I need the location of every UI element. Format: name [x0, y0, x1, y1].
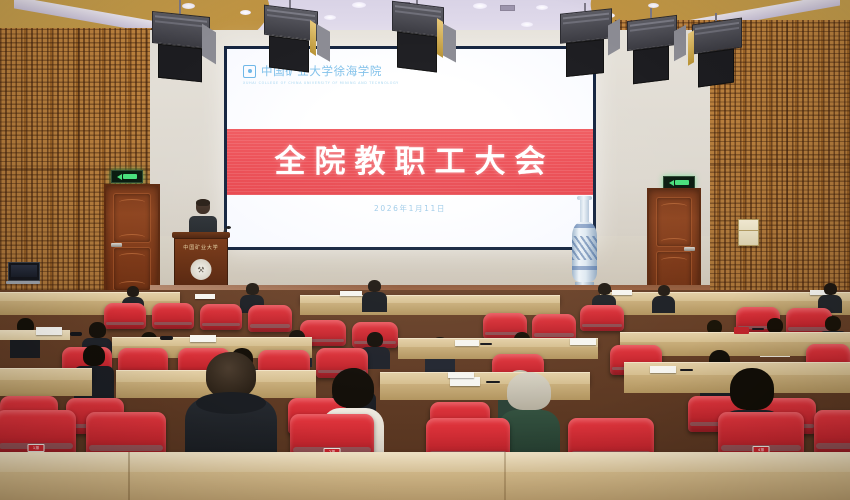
attendee — [362, 280, 387, 312]
paper-sheet — [650, 366, 676, 373]
seat[interactable] — [580, 305, 624, 331]
university-crest-icon — [243, 65, 256, 78]
paper-sheet — [36, 327, 62, 335]
downlight — [352, 2, 366, 8]
stage-light-side-flap — [443, 24, 456, 63]
paper-sheet — [448, 372, 474, 378]
pen — [480, 343, 492, 345]
seat[interactable] — [152, 303, 194, 329]
wall-seam — [78, 28, 80, 303]
paper-sheet — [340, 291, 362, 296]
door-ornament — [119, 253, 145, 260]
seat[interactable] — [248, 305, 292, 332]
door-handle-left[interactable] — [111, 243, 122, 247]
laptop-screen — [8, 262, 40, 281]
stage-light-rig — [558, 3, 612, 75]
running-man-exit-icon — [117, 174, 122, 180]
seat[interactable] — [532, 314, 576, 341]
paper-sheet — [455, 340, 479, 346]
paper-sheet — [190, 335, 216, 342]
podium-emblem-glyph: ⚒ — [197, 265, 204, 274]
slide-logo-english: XUHAI COLLEGE OF CHINA UNIVERSITY OF MIN… — [243, 81, 423, 85]
running-man-exit-icon — [669, 180, 674, 186]
laptop[interactable] — [8, 262, 38, 284]
wall-seam — [786, 22, 788, 304]
desk-row4-face — [0, 380, 92, 396]
paper-sheet — [195, 294, 215, 299]
speaker-hair — [196, 199, 210, 206]
door-left[interactable] — [104, 184, 160, 300]
pen — [752, 328, 764, 330]
paper-sheet — [570, 338, 596, 345]
attendee — [652, 285, 675, 313]
seat[interactable]: 1排 — [0, 410, 76, 456]
door-ornament — [661, 257, 687, 264]
door-ornament — [661, 238, 687, 245]
auditorium-photo: 中国矿业大学徐海学院 XUHAI COLLEGE OF CHINA UNIVER… — [0, 0, 850, 500]
desk-foreground-seam — [504, 452, 506, 500]
exit-sign-left — [111, 170, 143, 183]
door-ornament — [119, 199, 145, 206]
porcelain-vase — [570, 196, 598, 294]
downlight — [240, 10, 251, 15]
university-seal-icon: ⚒ — [191, 259, 212, 280]
seat[interactable] — [814, 410, 850, 456]
stage-light-side-flap — [674, 25, 686, 61]
stage-light-gold-flap — [688, 30, 694, 65]
stage-light-rig — [690, 13, 742, 85]
downlight — [521, 22, 533, 27]
attendee-foreground-hood — [196, 392, 266, 414]
seat[interactable] — [200, 304, 242, 330]
notebook — [734, 327, 749, 334]
mobile-phone[interactable] — [70, 332, 82, 336]
door-ornament — [119, 234, 145, 241]
slide-date: 2026年1月11日 — [227, 203, 593, 214]
microphone-head — [226, 226, 231, 229]
downlight — [473, 3, 487, 9]
mobile-phone[interactable] — [160, 336, 173, 340]
downlight — [536, 5, 548, 10]
wall-control-panel[interactable] — [738, 219, 759, 246]
podium-label: 中国矿业大学 — [175, 244, 227, 251]
stage-light-rig — [390, 0, 444, 70]
stage-light-rig — [625, 8, 677, 82]
door-handle-right[interactable] — [684, 247, 695, 251]
pen — [680, 369, 693, 371]
slide-red-banner: 全院教职工大会 — [227, 129, 593, 195]
door-ornament — [661, 203, 687, 210]
slide-banner-title: 全院教职工大会 — [227, 129, 593, 195]
downlight — [324, 15, 336, 20]
projection-screen: 中国矿业大学徐海学院 XUHAI COLLEGE OF CHINA UNIVER… — [227, 49, 593, 247]
paper-sheet — [450, 377, 480, 386]
stage-light-rig — [150, 0, 210, 80]
projection-screen-frame: 中国矿业大学徐海学院 XUHAI COLLEGE OF CHINA UNIVER… — [224, 46, 596, 250]
laptop-base — [6, 281, 40, 284]
desk-foreground-seam — [128, 452, 130, 500]
stage-light-gold-flap — [310, 20, 316, 56]
ceiling-vent — [500, 5, 515, 11]
